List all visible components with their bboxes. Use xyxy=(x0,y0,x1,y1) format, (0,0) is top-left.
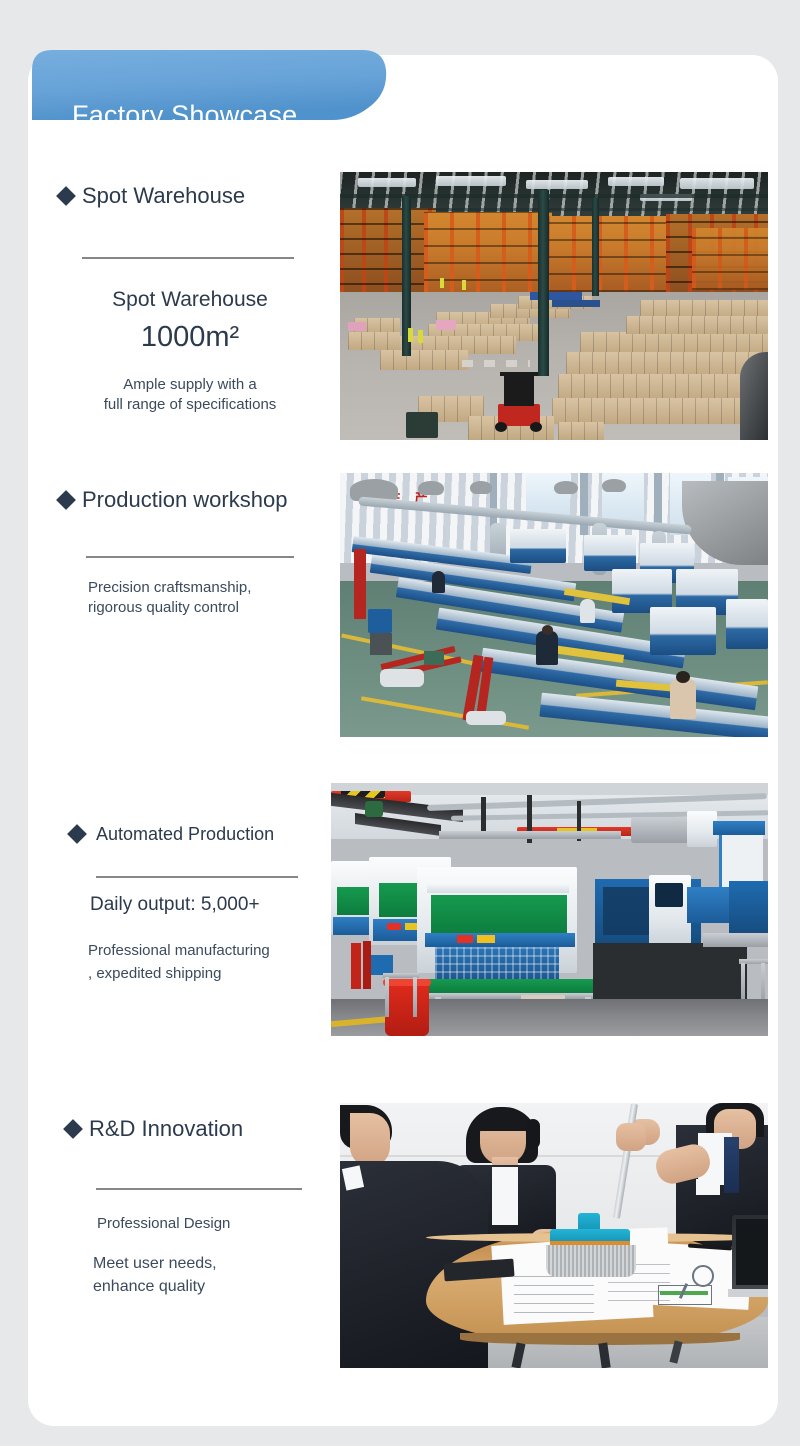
rd-meeting-photo xyxy=(340,1103,768,1368)
sections-container: Spot Warehouse Spot Warehouse 1000m² Amp… xyxy=(0,0,800,1446)
section-divider-rd-innovation xyxy=(96,1188,302,1190)
section-heading-spot-warehouse: Spot Warehouse xyxy=(59,183,245,209)
desc-spot-warehouse: Ample supply with a full range of specif… xyxy=(60,375,320,416)
desc-line-2: , expedited shipping xyxy=(88,963,338,986)
diamond-bullet-icon xyxy=(56,186,76,206)
desc-line-1: Ample supply with a xyxy=(60,375,320,395)
section-divider-automated-production xyxy=(96,876,298,878)
desc-line-2: rigorous quality control xyxy=(88,598,328,618)
stat-value-spot-warehouse: 1000m² xyxy=(60,320,320,354)
desc-line-2: full range of specifications xyxy=(60,395,320,415)
stat-label-spot-warehouse: Spot Warehouse xyxy=(60,288,320,313)
desc-production-workshop: Precision craftsmanship, rigorous qualit… xyxy=(88,578,328,619)
desc-line-1: Professional manufacturing xyxy=(88,940,338,963)
desc-automated-production: Professional manufacturing , expedited s… xyxy=(88,940,338,985)
section-heading-rd-innovation: R&D Innovation xyxy=(66,1116,243,1142)
section-title-text: Automated Production xyxy=(96,821,274,847)
diamond-bullet-icon xyxy=(63,1119,83,1139)
section-title-text: Production workshop xyxy=(82,487,287,513)
desc-line-1: Precision craftsmanship, xyxy=(88,578,328,598)
desc-line-1: Meet user needs, xyxy=(93,1252,333,1275)
section-title-text: Spot Warehouse xyxy=(82,183,245,209)
section-heading-automated-production: Automated Production xyxy=(70,821,274,847)
automated-production-photo xyxy=(331,783,768,1036)
section-divider-production-workshop xyxy=(86,556,294,558)
section-title-text: R&D Innovation xyxy=(89,1116,243,1142)
stat-value-rd-innovation: Professional Design xyxy=(97,1214,337,1234)
factory-showcase-page: Factory Showcase Spot Warehouse Spot War… xyxy=(0,0,800,1446)
desc-rd-innovation: Meet user needs, enhance quality xyxy=(93,1252,333,1298)
stat-value-automated-production: Daily output: 5,000+ xyxy=(90,894,336,916)
page-title: Factory Showcase xyxy=(72,100,297,130)
diamond-bullet-icon xyxy=(56,490,76,510)
section-heading-production-workshop: Production workshop xyxy=(59,487,287,513)
warehouse-photo xyxy=(340,172,768,440)
workshop-photo: 生 产 xyxy=(340,473,768,737)
diamond-bullet-icon xyxy=(67,824,87,844)
desc-line-2: enhance quality xyxy=(93,1275,333,1298)
section-divider-spot-warehouse xyxy=(82,257,294,259)
